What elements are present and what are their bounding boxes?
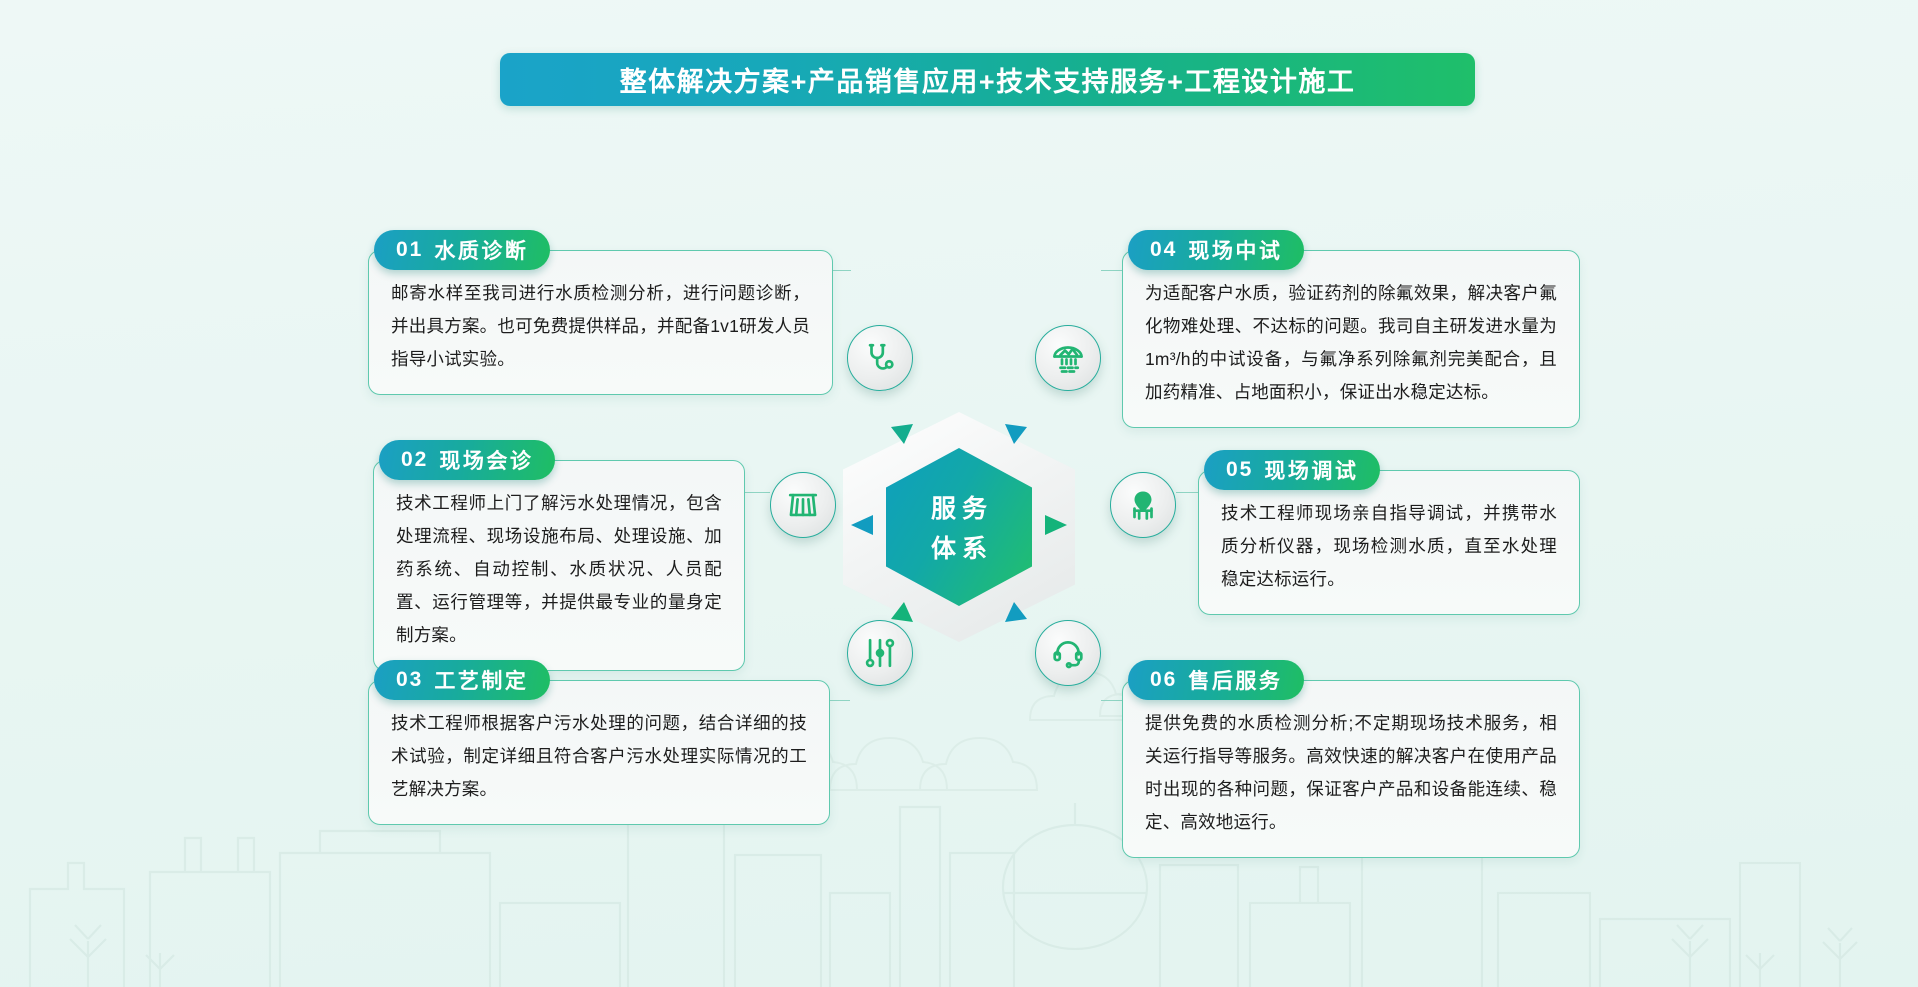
service-card-01: 01 水质诊断 邮寄水样至我司进行水质检测分析，进行问题诊断，并出具方案。也可免… [368, 250, 833, 395]
service-card-03: 03 工艺制定 技术工程师根据客户污水处理的问题，结合详细的技术试验，制定详细且… [368, 680, 830, 825]
connector-line-03 [830, 700, 850, 701]
facility-gate-icon [786, 488, 820, 522]
service-card-06: 06 售后服务 提供免费的水质检测分析;不定期现场技术服务，相关运行指导等服务。… [1122, 680, 1580, 858]
card-tag-02[interactable]: 02 现场会诊 [379, 440, 555, 480]
center-label-line1: 服务 [925, 489, 993, 525]
center-label-line2: 体系 [925, 529, 993, 565]
card-body-02: 技术工程师上门了解污水处理情况，包含处理流程、现场设施布局、处理设施、加药系统、… [373, 460, 745, 671]
connector-line-02 [745, 492, 770, 493]
icon-bubble-02[interactable] [770, 472, 836, 538]
card-tag-05[interactable]: 05 现场调试 [1204, 450, 1380, 490]
arrow-top-left-icon [891, 424, 913, 444]
arrow-top-right-icon [1005, 424, 1027, 444]
card-title-05: 现场调试 [1264, 455, 1358, 485]
card-tag-01[interactable]: 01 水质诊断 [374, 230, 550, 270]
card-text-04: 为适配客户水质，验证药剂的除氟效果，解决客户氟化物难处理、不达标的问题。我司自主… [1145, 277, 1557, 409]
card-number-06: 06 [1150, 668, 1177, 692]
card-title-04: 现场中试 [1188, 235, 1282, 265]
card-body-04: 为适配客户水质，验证药剂的除氟效果，解决客户氟化物难处理、不达标的问题。我司自主… [1122, 250, 1580, 428]
card-text-05: 技术工程师现场亲自指导调试，并携带水质分析仪器，现场检测水质，直至水处理稳定达标… [1221, 497, 1557, 596]
arrow-bottom-right-icon [1005, 602, 1027, 622]
card-number-02: 02 [401, 448, 428, 472]
card-body-05: 技术工程师现场亲自指导调试，并携带水质分析仪器，现场检测水质，直至水处理稳定达标… [1198, 470, 1580, 615]
card-number-01: 01 [396, 238, 423, 262]
connector-line-05 [1176, 492, 1198, 493]
icon-bubble-05[interactable] [1110, 472, 1176, 538]
arrow-left-icon [851, 515, 873, 535]
filtration-mountain-icon [1050, 340, 1086, 376]
card-text-03: 技术工程师根据客户污水处理的问题，结合详细的技术试验，制定详细且符合客户污水处理… [391, 707, 807, 806]
card-body-03: 技术工程师根据客户污水处理的问题，结合详细的技术试验，制定详细且符合客户污水处理… [368, 680, 830, 825]
card-tag-04[interactable]: 04 现场中试 [1128, 230, 1304, 270]
card-title-02: 现场会诊 [439, 445, 533, 475]
page-title-banner: 整体解决方案+产品销售应用+技术支持服务+工程设计施工 [500, 53, 1475, 106]
card-text-02: 技术工程师上门了解污水处理情况，包含处理流程、现场设施布局、处理设施、加药系统、… [396, 487, 722, 652]
card-text-06: 提供免费的水质检测分析;不定期现场技术服务，相关运行指导等服务。高效快速的解决客… [1145, 707, 1557, 839]
stethoscope-icon [863, 341, 897, 375]
arrow-bottom-left-icon [891, 602, 913, 622]
location-pin-icon [1126, 488, 1160, 522]
icon-bubble-01[interactable] [847, 325, 913, 391]
icon-bubble-04[interactable] [1035, 325, 1101, 391]
center-hub: 服务 体系 [843, 412, 1075, 642]
card-tag-03[interactable]: 03 工艺制定 [374, 660, 550, 700]
card-title-01: 水质诊断 [434, 235, 528, 265]
connector-line-01 [833, 270, 851, 271]
service-card-02: 02 现场会诊 技术工程师上门了解污水处理情况，包含处理流程、现场设施布局、处理… [373, 460, 745, 671]
service-card-04: 04 现场中试 为适配客户水质，验证药剂的除氟效果，解决客户氟化物难处理、不达标… [1122, 250, 1580, 428]
card-body-06: 提供免费的水质检测分析;不定期现场技术服务，相关运行指导等服务。高效快速的解决客… [1122, 680, 1580, 858]
card-number-03: 03 [396, 668, 423, 692]
card-number-05: 05 [1226, 458, 1253, 482]
card-tag-06[interactable]: 06 售后服务 [1128, 660, 1304, 700]
card-title-06: 售后服务 [1188, 665, 1282, 695]
card-body-01: 邮寄水样至我司进行水质检测分析，进行问题诊断，并出具方案。也可免费提供样品，并配… [368, 250, 833, 395]
page-title: 整体解决方案+产品销售应用+技术支持服务+工程设计施工 [620, 60, 1356, 99]
card-text-01: 邮寄水样至我司进行水质检测分析，进行问题诊断，并出具方案。也可免费提供样品，并配… [391, 277, 810, 376]
connector-line-04 [1101, 270, 1122, 271]
service-card-05: 05 现场调试 技术工程师现场亲自指导调试，并携带水质分析仪器，现场检测水质，直… [1198, 470, 1580, 615]
connector-line-06 [1101, 700, 1122, 701]
card-number-04: 04 [1150, 238, 1177, 262]
card-title-03: 工艺制定 [434, 665, 528, 695]
arrow-right-icon [1045, 515, 1067, 535]
